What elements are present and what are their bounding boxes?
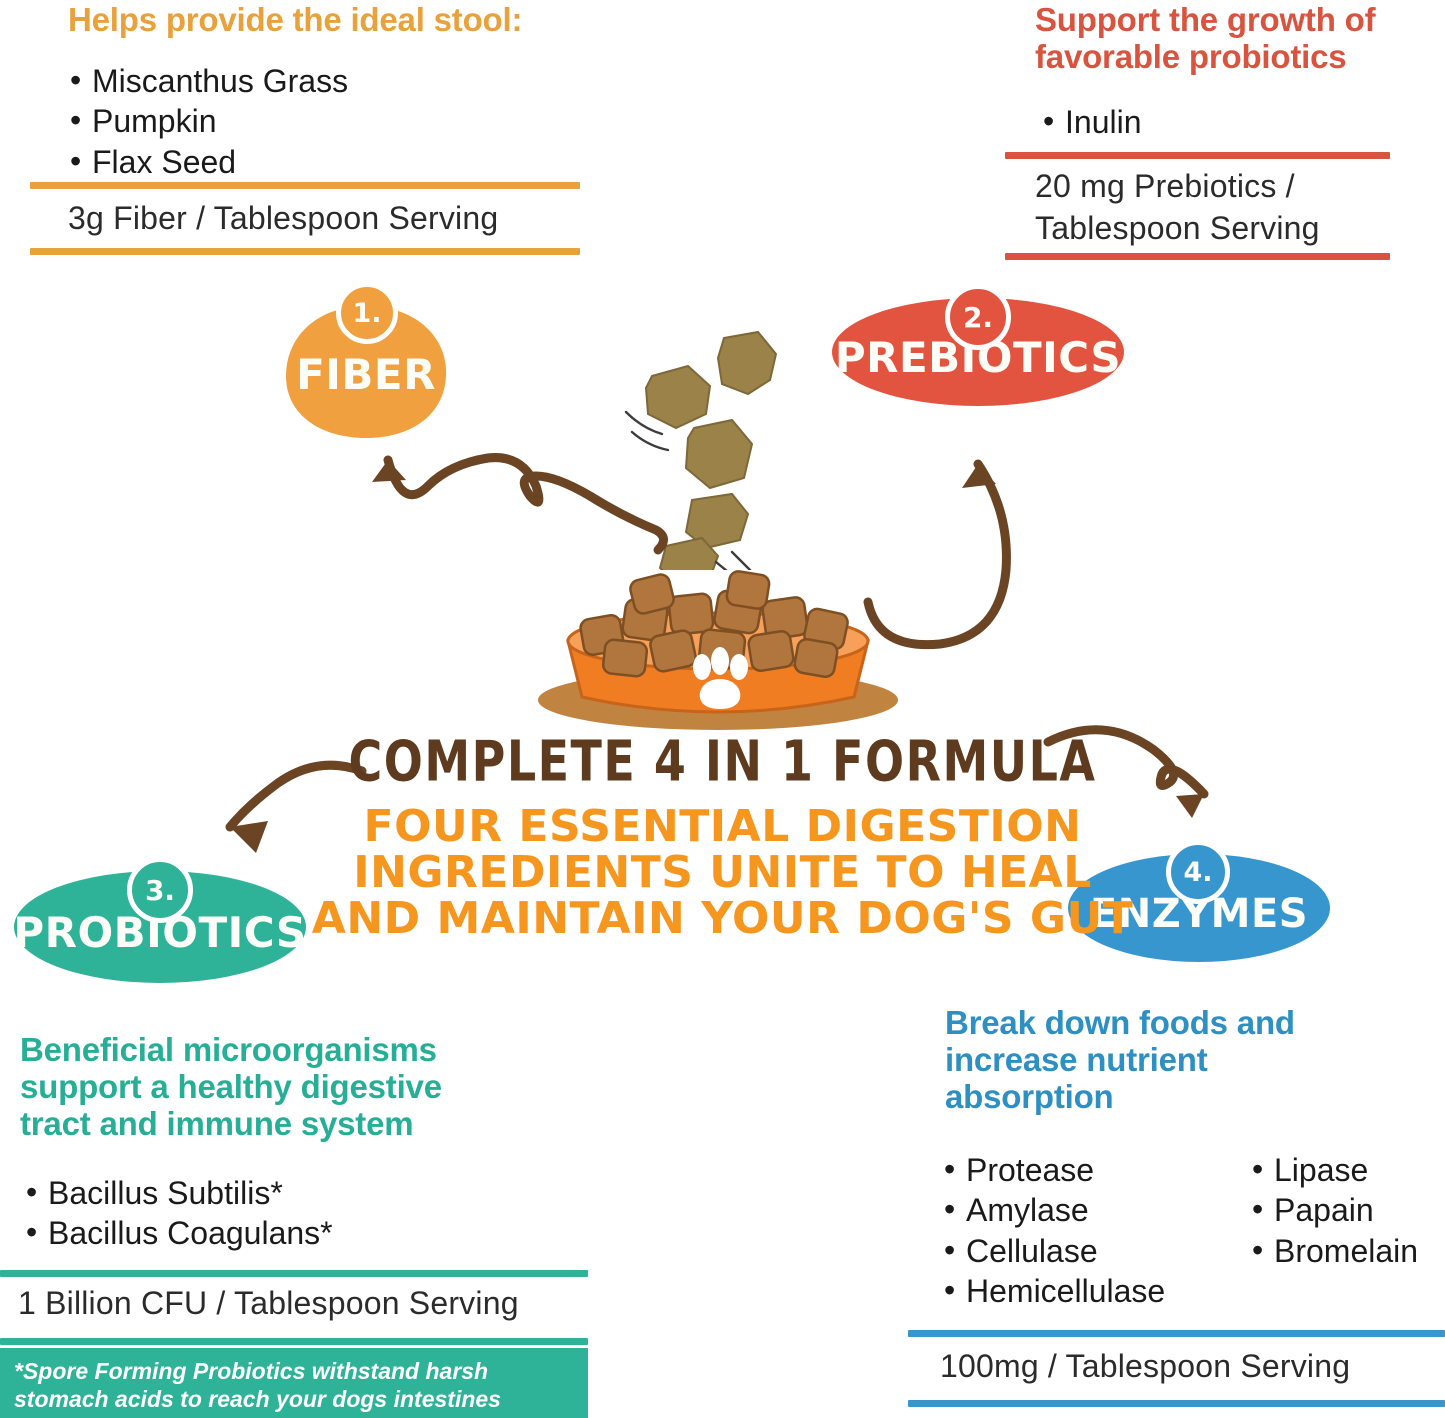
spore-forming-note: *Spore Forming Probiotics withstand hars…	[0, 1348, 588, 1418]
spore-note-line1: *Spore Forming Probiotics withstand hars…	[14, 1358, 574, 1386]
badge-prebiotics[interactable]: PREBIOTICS 2.	[832, 284, 1124, 406]
prebiotics-rule-bottom	[1005, 253, 1390, 260]
fiber-serving-text: 3g Fiber / Tablespoon Serving	[68, 200, 498, 238]
prebiotics-heading-line2: favorable probiotics	[1035, 39, 1425, 76]
formula-block: COMPLETE 4 IN 1 FORMULA FOUR ESSENTIAL D…	[0, 728, 1445, 943]
enzymes-serving-text: 100mg / Tablespoon Serving	[940, 1348, 1350, 1386]
formula-sub-line3: AND MAINTAIN YOUR DOG'S GUT	[0, 896, 1445, 942]
fiber-heading: Helps provide the ideal stool:	[68, 0, 590, 39]
enzymes-rule-top	[908, 1330, 1445, 1337]
list-item: Bacillus Subtilis*	[22, 1173, 600, 1213]
enzymes-heading-line3: absorption	[945, 1079, 1445, 1116]
arrow-to-prebiotics	[850, 420, 1040, 660]
prebiotics-heading-line1: Support the growth of	[1035, 0, 1425, 39]
formula-subtitle: FOUR ESSENTIAL DIGESTION INGREDIENTS UNI…	[0, 804, 1445, 943]
probiotics-info-block: Beneficial microorganisms support a heal…	[20, 1032, 600, 1253]
fiber-rule-top	[30, 182, 580, 189]
enzymes-heading-line1: Break down foods and	[945, 1005, 1445, 1042]
list-item: Miscanthus Grass	[66, 61, 590, 101]
arrow-to-fiber	[340, 420, 680, 630]
probiotics-heading-line1: Beneficial microorganisms	[20, 1032, 600, 1069]
list-item: Lipase	[1248, 1150, 1418, 1190]
probiotics-serving-text: 1 Billion CFU / Tablespoon Serving	[18, 1285, 519, 1323]
list-item: Cellulase	[940, 1231, 1165, 1271]
list-item: Papain	[1248, 1190, 1418, 1230]
list-item: Amylase	[940, 1190, 1165, 1230]
list-item: Flax Seed	[66, 142, 590, 182]
fiber-info-block: Helps provide the ideal stool: Miscanthu…	[30, 0, 590, 182]
prebiotics-rule-top	[1005, 152, 1390, 159]
prebiotics-ingredient-list: Inulin	[1039, 102, 1425, 142]
enzymes-rule-bottom	[908, 1400, 1445, 1407]
enzymes-info-block: Break down foods and increase nutrient a…	[945, 1005, 1445, 1116]
list-item: Hemicellulase	[940, 1271, 1165, 1311]
fiber-ingredient-list: Miscanthus Grass Pumpkin Flax Seed	[66, 61, 590, 182]
probiotics-heading-line2: support a healthy digestive	[20, 1069, 600, 1106]
formula-sub-line2: INGREDIENTS UNITE TO HEAL	[0, 850, 1445, 896]
prebiotics-info-block: Support the growth of favorable probioti…	[1005, 0, 1425, 142]
probiotics-rule-top	[0, 1270, 588, 1277]
list-item: Bromelain	[1248, 1231, 1418, 1271]
formula-title: COMPLETE 4 IN 1 FORMULA	[0, 728, 1445, 794]
prebiotics-serving-line1: 20 mg Prebiotics /	[1035, 168, 1295, 206]
probiotics-heading-line3: tract and immune system	[20, 1106, 600, 1143]
probiotics-ingredient-list: Bacillus Subtilis* Bacillus Coagulans*	[22, 1173, 600, 1254]
infographic-page: Helps provide the ideal stool: Miscanthu…	[0, 0, 1445, 1418]
enzymes-heading-line2: increase nutrient	[945, 1042, 1445, 1079]
fiber-rule-bottom	[30, 248, 580, 255]
enzymes-ingredient-list-col1: Protease Amylase Cellulase Hemicellulase	[940, 1150, 1165, 1311]
badge-fiber[interactable]: FIBER 1.	[282, 288, 450, 438]
prebiotics-badge-number: 2.	[945, 284, 1011, 350]
probiotics-rule-bottom	[0, 1338, 588, 1345]
list-item: Inulin	[1039, 102, 1425, 142]
prebiotics-serving-line2: Tablespoon Serving	[1035, 210, 1320, 248]
enzymes-ingredient-list-col2: Lipase Papain Bromelain	[1248, 1150, 1418, 1271]
list-item: Protease	[940, 1150, 1165, 1190]
list-item: Bacillus Coagulans*	[22, 1213, 600, 1253]
list-item: Pumpkin	[66, 101, 590, 141]
formula-sub-line1: FOUR ESSENTIAL DIGESTION	[0, 804, 1445, 850]
spore-note-line2: stomach acids to reach your dogs intesti…	[14, 1386, 574, 1414]
fiber-badge-number: 1.	[336, 282, 398, 344]
